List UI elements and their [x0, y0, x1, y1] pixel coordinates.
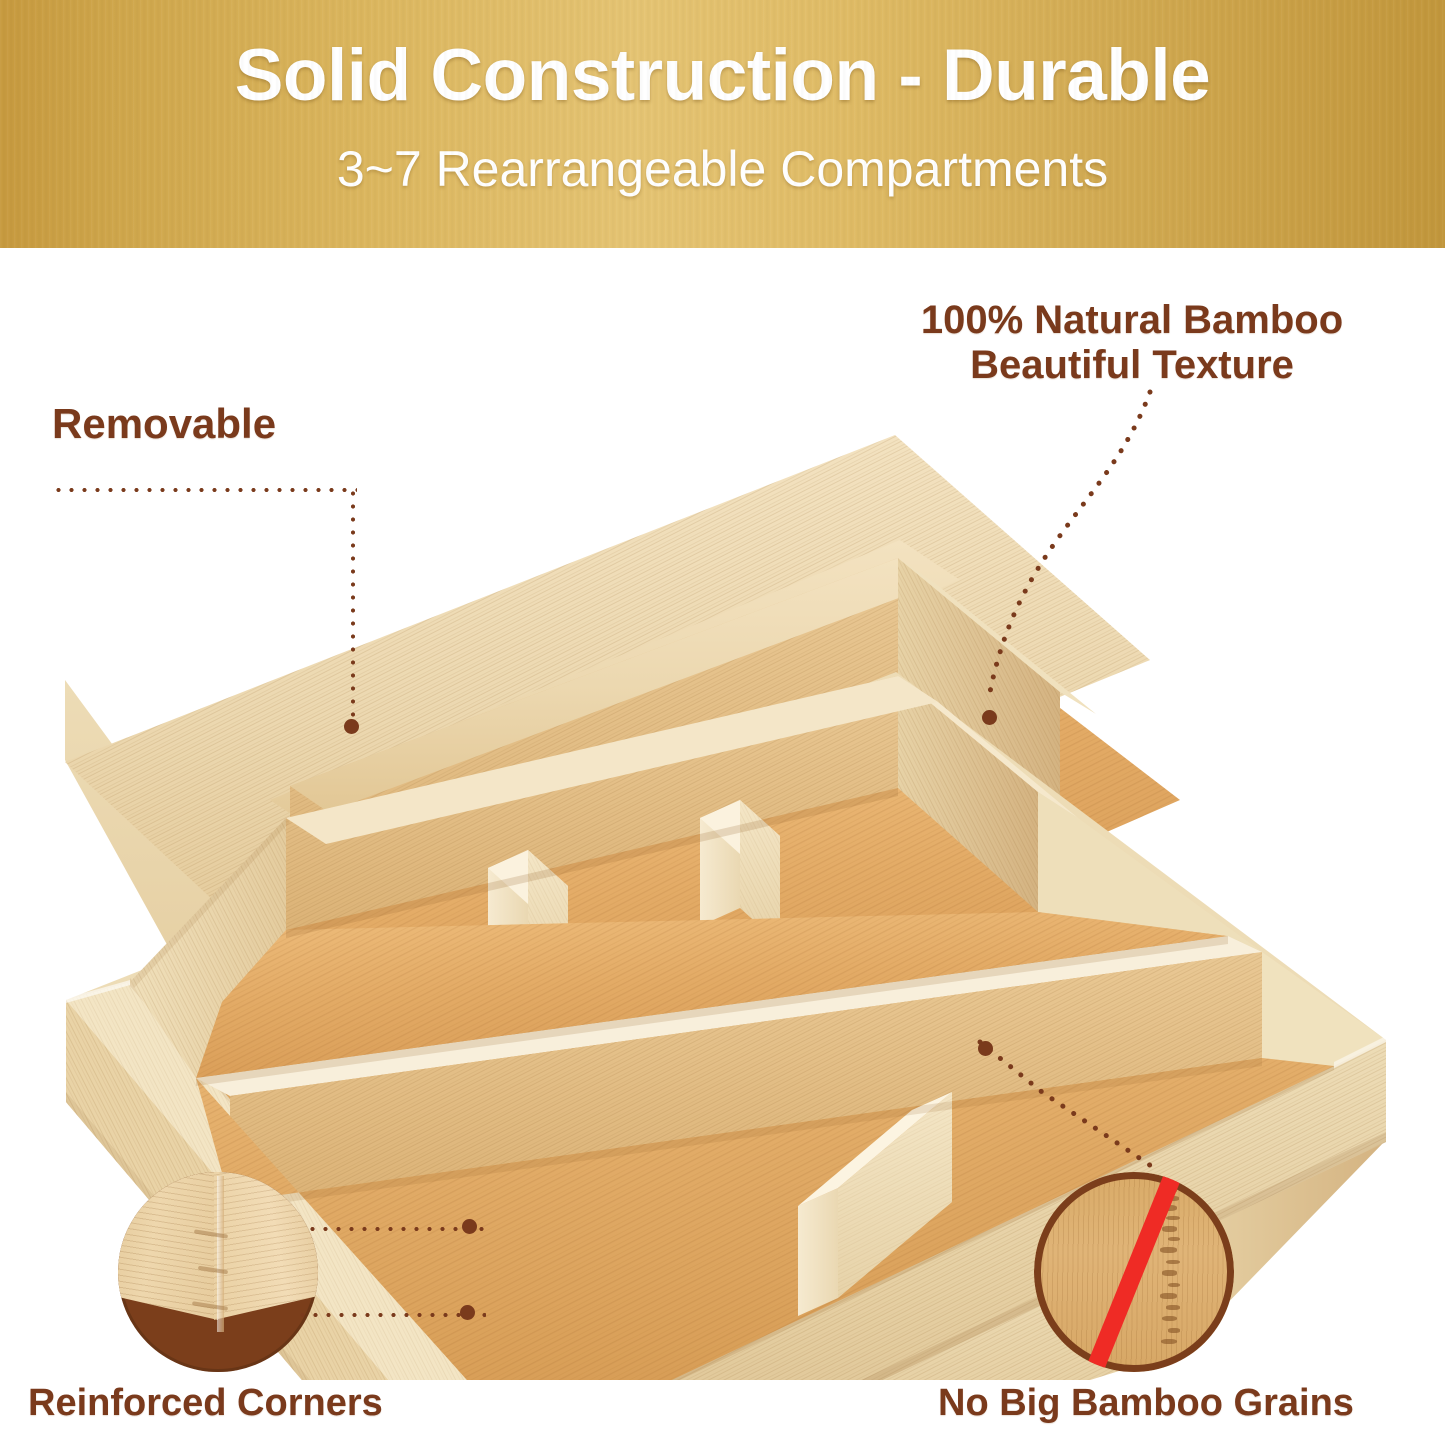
rear-box-back-rim: [290, 558, 936, 812]
rear-section-inner-back-wall: [292, 676, 898, 1022]
rear-row-inner-back: [286, 676, 898, 930]
long-divider-front: [196, 934, 1222, 1168]
rear-box-right-wall: [898, 558, 1060, 800]
rim-front: [468, 1040, 1386, 1380]
mid-row-floor: [290, 800, 1218, 1092]
callout-reinforced-corners: Reinforced Corners: [28, 1382, 383, 1425]
mid-row-left-wall: [130, 818, 286, 1078]
header-banner: Solid Construction - Durable 3~7 Rearran…: [0, 0, 1445, 248]
leader-endpoint-corners-bottom: [460, 1305, 475, 1320]
tray-rim-back-2: [184, 760, 800, 998]
tray-inner-floor-back: [328, 956, 1322, 1202]
tray-tall-back-wall: [224, 788, 1024, 1172]
divider-long-top: [196, 936, 1262, 1096]
leader-line-corners-bottom: [296, 1312, 486, 1318]
bamboo-face-left: [118, 1172, 218, 1320]
leader-endpoint-corners-top: [462, 1219, 477, 1234]
outer-wall-front: [468, 1040, 1386, 1380]
leader-endpoint-removable: [344, 719, 359, 734]
infographic-canvas: Solid Construction - Durable 3~7 Rearran…: [0, 0, 1445, 1431]
reinforced-corners-inset: [118, 1172, 318, 1372]
rear-box-front-face: [290, 798, 1022, 1032]
rear-box-right-rim: [898, 558, 1096, 714]
rear-divider-a: [488, 850, 568, 994]
rear-section-rim: [898, 676, 1078, 818]
long-divider-front-face: [300, 940, 880, 1246]
callout-removable: Removable: [52, 400, 276, 447]
tray-back-outer-wall: [896, 672, 1386, 1040]
leader-line-natural-bamboo: [960, 392, 1160, 732]
leader-line-removable-horizontal: [52, 487, 357, 493]
divider-long-front: [230, 952, 1262, 1202]
rear-box-floor: [290, 704, 1022, 1026]
upper-row-floor: [184, 852, 880, 1156]
front-row-divider: [798, 1092, 952, 1316]
no-big-grains-inset: [1034, 1172, 1234, 1372]
page-title: Solid Construction - Durable: [0, 38, 1445, 115]
bamboo-face-right: [214, 1172, 318, 1320]
tray-inner-floor-front: [300, 1030, 1120, 1380]
page-subtitle: 3~7 Rearrangeable Compartments: [0, 143, 1445, 196]
leader-endpoint-no-grains: [978, 1041, 993, 1056]
callout-no-big-bamboo-grains: No Big Bamboo Grains: [938, 1382, 1354, 1425]
front-row-right-inner-wall: [1262, 952, 1386, 1066]
callout-natural-bamboo: 100% Natural Bamboo Beautiful Texture: [822, 298, 1442, 388]
rear-divider-b: [700, 800, 780, 944]
long-divider-top-edge: [300, 940, 908, 1172]
rear-row-back-rim: [286, 676, 938, 844]
rear-row-floor: [286, 788, 1038, 1056]
rear-box-back-wall: [290, 558, 898, 930]
leader-line-removable-vertical: [350, 487, 356, 727]
rear-section-right-wall: [898, 676, 1038, 912]
mid-row-floor-2: [196, 912, 1228, 1078]
mid-row-right-wall-2: [1038, 792, 1262, 952]
tray-back-rim: [270, 540, 960, 840]
leader-endpoint-natural-bamboo: [982, 710, 997, 725]
rear-row-outer-front-wall: [222, 792, 1038, 1002]
tray-inner-back-wall: [184, 760, 760, 1064]
